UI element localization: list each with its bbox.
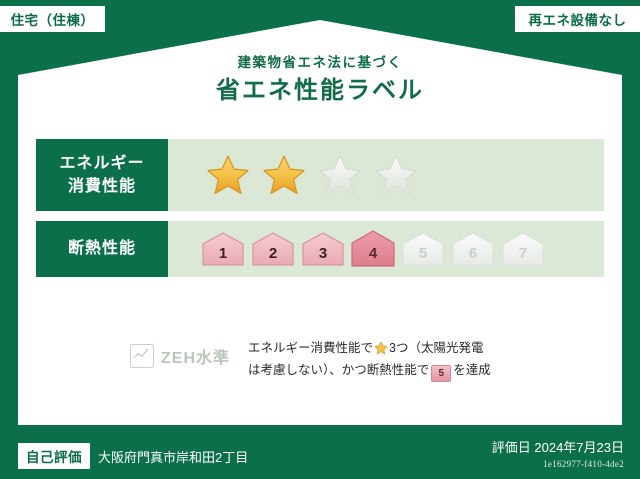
insulation-performance-row: 断熱性能 1 bbox=[36, 221, 604, 277]
self-evaluation-badge: 自己評価 bbox=[18, 443, 90, 469]
zeh-standard-label: ZEH水準 bbox=[161, 344, 230, 368]
label-identifier: 1e162977-f410-4de2 bbox=[492, 459, 624, 469]
zeh-note-block: ZEH水準 エネルギー消費性能で 3つ（太陽光発電 は考慮しない）、かつ断熱性能… bbox=[130, 338, 491, 382]
mini-star-icon bbox=[374, 341, 388, 355]
achievement-line2-prefix: は考慮しない）、かつ断熱性能で bbox=[248, 363, 429, 377]
insulation-grade-5: 5 bbox=[400, 229, 446, 269]
footer-left: 自己評価 大阪府門真市岸和田2丁目 bbox=[18, 443, 248, 469]
rating-rows: エネルギー 消費性能 bbox=[36, 139, 604, 287]
evaluation-date: 評価日 2024年7月23日 bbox=[492, 437, 624, 456]
insulation-grade-2-number: 2 bbox=[269, 245, 277, 269]
property-address: 大阪府門真市岸和田2丁目 bbox=[98, 447, 248, 466]
achievement-description-line2: は考慮しない）、かつ断熱性能で5を達成 bbox=[248, 360, 491, 382]
insulation-performance-label: 断熱性能 bbox=[36, 221, 168, 277]
zeh-chart-icon bbox=[130, 344, 154, 368]
star-icon-empty-4 bbox=[374, 154, 418, 196]
achievement-line1-suffix: 3つ（太陽光発電 bbox=[389, 341, 483, 355]
zeh-standard-marker: ZEH水準 bbox=[130, 338, 230, 368]
insulation-grade-3-number: 3 bbox=[319, 245, 327, 269]
insulation-grade-6-number: 6 bbox=[469, 245, 477, 269]
energy-performance-label-line1: エネルギー bbox=[59, 152, 144, 175]
energy-performance-row: エネルギー 消費性能 bbox=[36, 139, 604, 211]
insulation-grade-3: 3 bbox=[300, 229, 346, 269]
building-type-badge: 住宅（住棟） bbox=[0, 6, 105, 32]
title-subtitle: 建築物省エネ法に基づく bbox=[0, 55, 640, 71]
insulation-grade-2: 2 bbox=[250, 229, 296, 269]
achievement-description-line1: エネルギー消費性能で 3つ（太陽光発電 bbox=[248, 338, 491, 360]
star-icon-filled-1 bbox=[206, 154, 250, 196]
achievement-line2-suffix: を達成 bbox=[453, 363, 491, 377]
insulation-performance-label-text: 断熱性能 bbox=[68, 237, 136, 260]
insulation-grade-6: 6 bbox=[450, 229, 496, 269]
insulation-grade-5-number: 5 bbox=[419, 245, 427, 269]
energy-performance-stars bbox=[168, 139, 604, 211]
insulation-grade-7-number: 7 bbox=[519, 245, 527, 269]
insulation-target-badge: 5 bbox=[431, 365, 451, 382]
insulation-grade-4-number: 4 bbox=[369, 245, 377, 269]
insulation-grade-4-current: 4 bbox=[350, 229, 396, 269]
renewable-equipment-badge: 再エネ設備なし bbox=[515, 6, 640, 32]
energy-label-root: 住宅（住棟） 再エネ設備なし 建築物省エネ法に基づく 省エネ性能ラベル エネルギ… bbox=[0, 0, 640, 479]
insulation-performance-scale: 1 2 bbox=[168, 221, 604, 277]
insulation-grade-7: 7 bbox=[500, 229, 546, 269]
achievement-line1-prefix: エネルギー消費性能で bbox=[248, 341, 373, 355]
footer-right: 評価日 2024年7月23日 1e162977-f410-4de2 bbox=[492, 437, 624, 469]
achievement-description: エネルギー消費性能で 3つ（太陽光発電 は考慮しない）、かつ断熱性能で5を達成 bbox=[248, 338, 491, 382]
label-title-block: 建築物省エネ法に基づく 省エネ性能ラベル bbox=[0, 55, 640, 105]
star-icon-empty-3 bbox=[318, 154, 362, 196]
insulation-grade-1: 1 bbox=[200, 229, 246, 269]
energy-performance-label: エネルギー 消費性能 bbox=[36, 139, 168, 211]
energy-performance-label-line2: 消費性能 bbox=[68, 175, 136, 198]
building-type-badge-label: 住宅（住棟） bbox=[11, 9, 95, 29]
insulation-grade-1-number: 1 bbox=[219, 245, 227, 269]
page-title: 省エネ性能ラベル bbox=[0, 77, 640, 105]
star-icon-filled-2 bbox=[262, 154, 306, 196]
renewable-equipment-badge-label: 再エネ設備なし bbox=[529, 9, 627, 29]
